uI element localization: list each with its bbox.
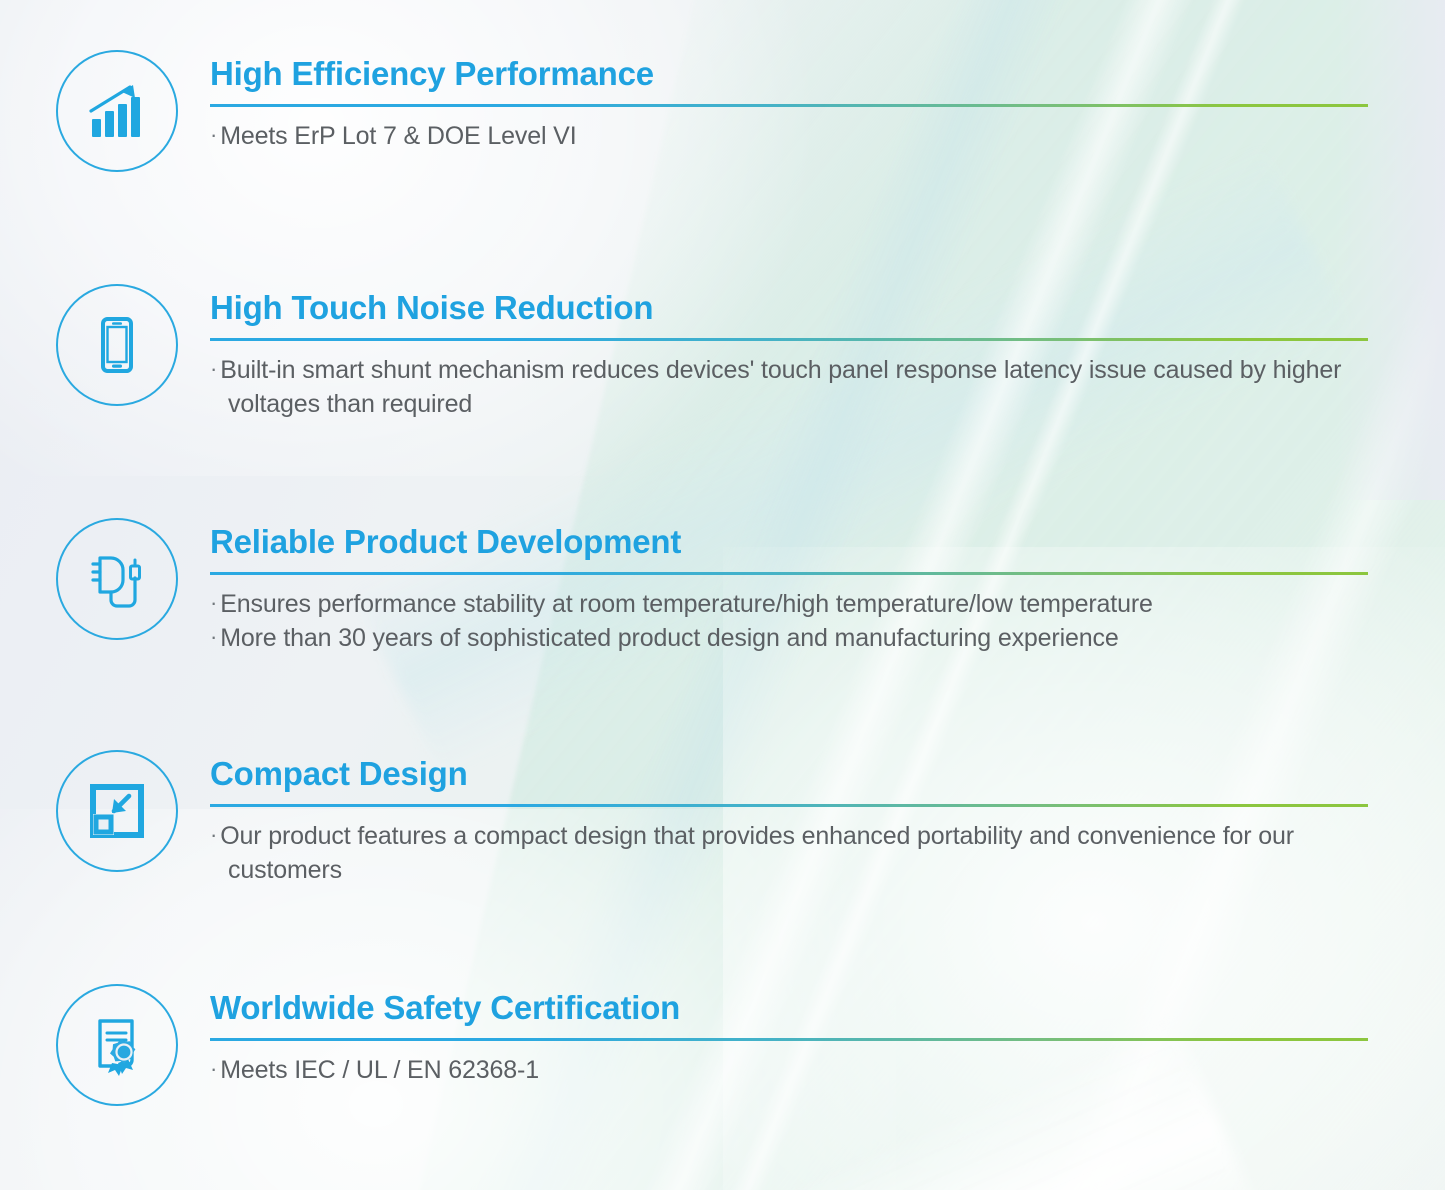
feature-line-text: Ensures performance stability at room te… xyxy=(220,590,1153,618)
power-adapter-icon xyxy=(56,518,178,640)
feature-body: High Touch Noise Reduction ·Built-in sma… xyxy=(210,290,1370,421)
bullet-mark: · xyxy=(210,590,220,615)
feature-body: High Efficiency Performance ·Meets ErP L… xyxy=(210,56,1370,153)
feature-divider xyxy=(210,104,1368,107)
feature-lines: ·Ensures performance stability at room t… xyxy=(210,587,1370,655)
feature-lines: ·Meets ErP Lot 7 & DOE Level VI xyxy=(210,119,1370,153)
smartphone-icon xyxy=(56,284,178,406)
feature-divider xyxy=(210,338,1368,341)
feature-title: Worldwide Safety Certification xyxy=(210,990,1370,1026)
feature-line: ·Meets IEC / UL / EN 62368-1 xyxy=(210,1053,1370,1087)
bullet-mark: · xyxy=(210,624,220,649)
feature-line: ·Meets ErP Lot 7 & DOE Level VI xyxy=(210,119,1370,153)
bullet-mark: · xyxy=(210,822,220,847)
feature-title: High Efficiency Performance xyxy=(210,56,1370,92)
bar-chart-growth-icon xyxy=(56,50,178,172)
feature-line: ·Built-in smart shunt mechanism reduces … xyxy=(210,353,1360,421)
feature-line: ·Our product features a compact design t… xyxy=(210,819,1300,887)
feature-line-text: Our product features a compact design th… xyxy=(220,822,1294,884)
feature-body: Reliable Product Development ·Ensures pe… xyxy=(210,524,1370,655)
feature-line-text: Meets IEC / UL / EN 62368-1 xyxy=(220,1056,539,1084)
feature-body: Compact Design ·Our product features a c… xyxy=(210,756,1370,887)
bullet-mark: · xyxy=(210,356,220,381)
feature-title: Compact Design xyxy=(210,756,1370,792)
feature-line: ·Ensures performance stability at room t… xyxy=(210,587,1370,621)
feature-title: Reliable Product Development xyxy=(210,524,1370,560)
feature-divider xyxy=(210,572,1368,575)
feature-line-text: Built-in smart shunt mechanism reduces d… xyxy=(220,356,1341,418)
feature-body: Worldwide Safety Certification ·Meets IE… xyxy=(210,990,1370,1087)
feature-line-text: More than 30 years of sophisticated prod… xyxy=(220,624,1118,652)
feature-line-text: Meets ErP Lot 7 & DOE Level VI xyxy=(220,122,576,150)
feature-lines: ·Built-in smart shunt mechanism reduces … xyxy=(210,353,1370,421)
certificate-seal-icon xyxy=(56,984,178,1106)
bullet-mark: · xyxy=(210,1056,220,1081)
feature-lines: ·Meets IEC / UL / EN 62368-1 xyxy=(210,1053,1370,1087)
feature-list: High Efficiency Performance ·Meets ErP L… xyxy=(0,0,1445,1190)
feature-lines: ·Our product features a compact design t… xyxy=(210,819,1370,887)
compact-resize-icon xyxy=(56,750,178,872)
bullet-mark: · xyxy=(210,122,220,147)
feature-line: ·More than 30 years of sophisticated pro… xyxy=(210,621,1370,655)
feature-divider xyxy=(210,804,1368,807)
feature-divider xyxy=(210,1038,1368,1041)
feature-title: High Touch Noise Reduction xyxy=(210,290,1370,326)
